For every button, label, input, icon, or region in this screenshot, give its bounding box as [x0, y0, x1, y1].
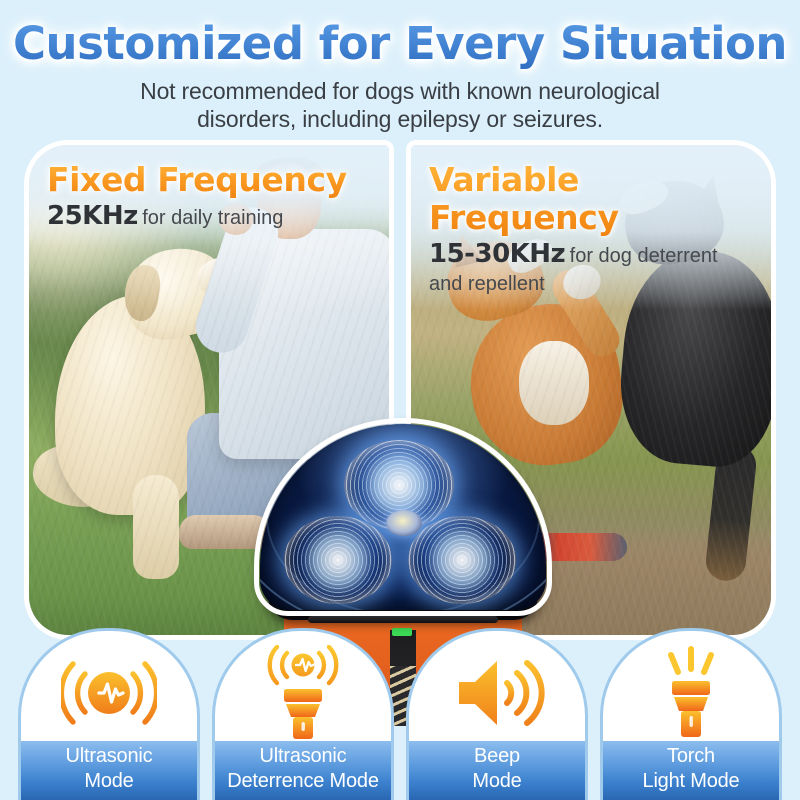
- feature-title: Variable Frequency: [429, 161, 753, 237]
- mode-list: Ultrasonic Mode: [18, 628, 782, 800]
- mode-card-torch-light[interactable]: Torch Light Mode: [600, 628, 782, 800]
- mode-label: Torch Light Mode: [603, 741, 779, 800]
- feature-subtitle: 25KHz for daily training: [47, 203, 371, 233]
- frequency-value: 25KHz: [47, 201, 138, 231]
- mode-label-line-1: Beep: [474, 744, 520, 769]
- mode-label-line-1: Ultrasonic: [260, 744, 347, 769]
- subtitle-line-1: Not recommended for dogs with known neur…: [0, 77, 800, 105]
- mode-label-line-2: Light Mode: [643, 769, 740, 794]
- page-subtitle: Not recommended for dogs with known neur…: [0, 77, 800, 133]
- subtitle-line-2: disorders, including epilepsy or seizure…: [0, 105, 800, 133]
- device-vent: [308, 616, 498, 623]
- feature-card-caption: Fixed Frequency 25KHz for daily training: [29, 145, 389, 245]
- torch-light-icon: [603, 631, 779, 741]
- mode-label-line-2: Mode: [84, 769, 133, 794]
- mode-label: Ultrasonic Deterrence Mode: [215, 741, 391, 800]
- page-title: Customized for Every Situation: [0, 0, 800, 72]
- frequency-value: 15-30KHz: [429, 239, 565, 269]
- mode-card-ultrasonic[interactable]: Ultrasonic Mode: [18, 628, 200, 800]
- header: Customized for Every Situation Not recom…: [0, 0, 800, 132]
- flashlight-ultrasonic-icon: [215, 631, 391, 741]
- mode-label-line-2: Deterrence Mode: [227, 769, 379, 794]
- mode-label: Beep Mode: [409, 741, 585, 800]
- mode-label: Ultrasonic Mode: [21, 741, 197, 800]
- frequency-description: for daily training: [142, 207, 283, 229]
- mode-card-ultrasonic-deterrence[interactable]: Ultrasonic Deterrence Mode: [212, 628, 394, 800]
- mode-card-beep[interactable]: Beep Mode: [406, 628, 588, 800]
- mode-label-line-2: Mode: [472, 769, 521, 794]
- feature-card-caption: Variable Frequency 15-30KHz for dog dete…: [411, 145, 771, 309]
- feature-title: Fixed Frequency: [47, 161, 371, 199]
- infographic-page: Customized for Every Situation Not recom…: [0, 0, 800, 800]
- speaker-sound-icon: [409, 631, 585, 741]
- frequency-description-line-2: and repellent: [429, 271, 753, 297]
- feature-subtitle: 15-30KHz for dog deterrent and repellent: [429, 241, 753, 297]
- ultrasonic-waves-icon: [21, 631, 197, 741]
- mode-label-line-1: Ultrasonic: [66, 744, 153, 769]
- mode-label-line-1: Torch: [667, 744, 715, 769]
- frequency-description: for dog deterrent: [570, 245, 718, 267]
